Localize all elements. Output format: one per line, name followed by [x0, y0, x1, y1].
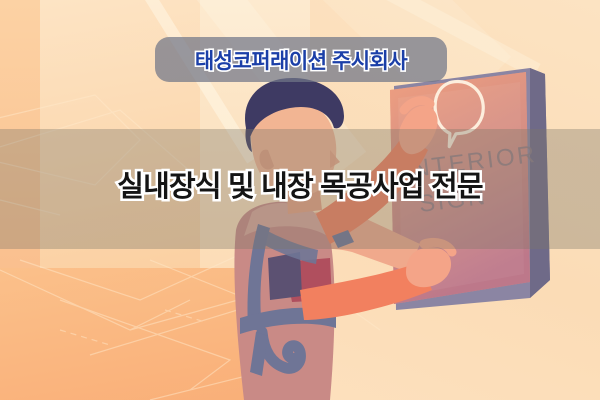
company-name-banner: 태성코퍼래이션 주시회사 [155, 37, 447, 82]
poster-canvas: INTERIOR SIGN [0, 0, 600, 400]
headline-container: 실내장식 및 내장 목공사업 전문 [0, 163, 600, 205]
headline-text: 실내장식 및 내장 목공사업 전문 [117, 163, 482, 205]
company-name-text: 태성코퍼래이션 주시회사 [195, 45, 407, 75]
